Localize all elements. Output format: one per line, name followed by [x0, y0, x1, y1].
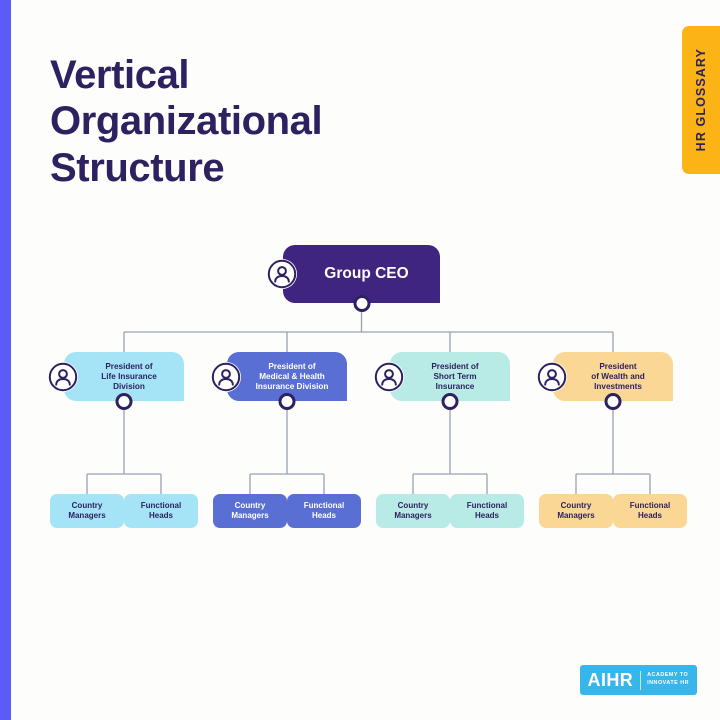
aihr-wordmark: AIHR: [588, 670, 641, 691]
node-president-life-insurance[interactable]: President of Life Insurance Division: [64, 352, 184, 401]
org-chart: Group CEO President of Life Insurance Di…: [0, 0, 720, 720]
connector-knob: [442, 393, 459, 410]
node-label: Country Managers: [394, 501, 431, 521]
node-label: President of Medical & Health Insurance …: [256, 362, 329, 392]
node-country-managers-life[interactable]: Country Managers: [50, 494, 124, 528]
node-group-ceo[interactable]: Group CEO: [283, 245, 440, 303]
node-label: President of Wealth and Investments: [591, 362, 645, 392]
node-president-wealth-investments[interactable]: President of Wealth and Investments: [553, 352, 673, 401]
connector-knob: [605, 393, 622, 410]
node-president-short-term[interactable]: President of Short Term Insurance: [390, 352, 510, 401]
aihr-tagline: ACADEMY TO INNOVATE HR: [641, 672, 689, 688]
node-country-managers-short-term[interactable]: Country Managers: [376, 494, 450, 528]
node-functional-heads-short-term[interactable]: Functional Heads: [450, 494, 524, 528]
node-functional-heads-wealth[interactable]: Functional Heads: [613, 494, 687, 528]
node-country-managers-wealth[interactable]: Country Managers: [539, 494, 613, 528]
aihr-logo: AIHR ACADEMY TO INNOVATE HR: [580, 665, 697, 695]
person-icon: [374, 362, 404, 392]
node-functional-heads-life[interactable]: Functional Heads: [124, 494, 198, 528]
node-label: President of Life Insurance Division: [101, 362, 157, 392]
node-functional-heads-medical[interactable]: Functional Heads: [287, 494, 361, 528]
node-label: Functional Heads: [141, 501, 181, 521]
node-label: Country Managers: [68, 501, 105, 521]
node-label: President of Short Term Insurance: [431, 362, 478, 392]
node-label: Functional Heads: [304, 501, 344, 521]
person-icon: [267, 259, 297, 289]
person-icon: [537, 362, 567, 392]
node-label: Group CEO: [324, 265, 408, 284]
connector-knob: [279, 393, 296, 410]
node-president-medical-health[interactable]: President of Medical & Health Insurance …: [227, 352, 347, 401]
connector-knob: [353, 295, 370, 312]
connector-knob: [116, 393, 133, 410]
node-label: Functional Heads: [467, 501, 507, 521]
node-label: Country Managers: [231, 501, 268, 521]
node-label: Country Managers: [557, 501, 594, 521]
person-icon: [48, 362, 78, 392]
node-label: Functional Heads: [630, 501, 670, 521]
node-country-managers-medical[interactable]: Country Managers: [213, 494, 287, 528]
person-icon: [211, 362, 241, 392]
